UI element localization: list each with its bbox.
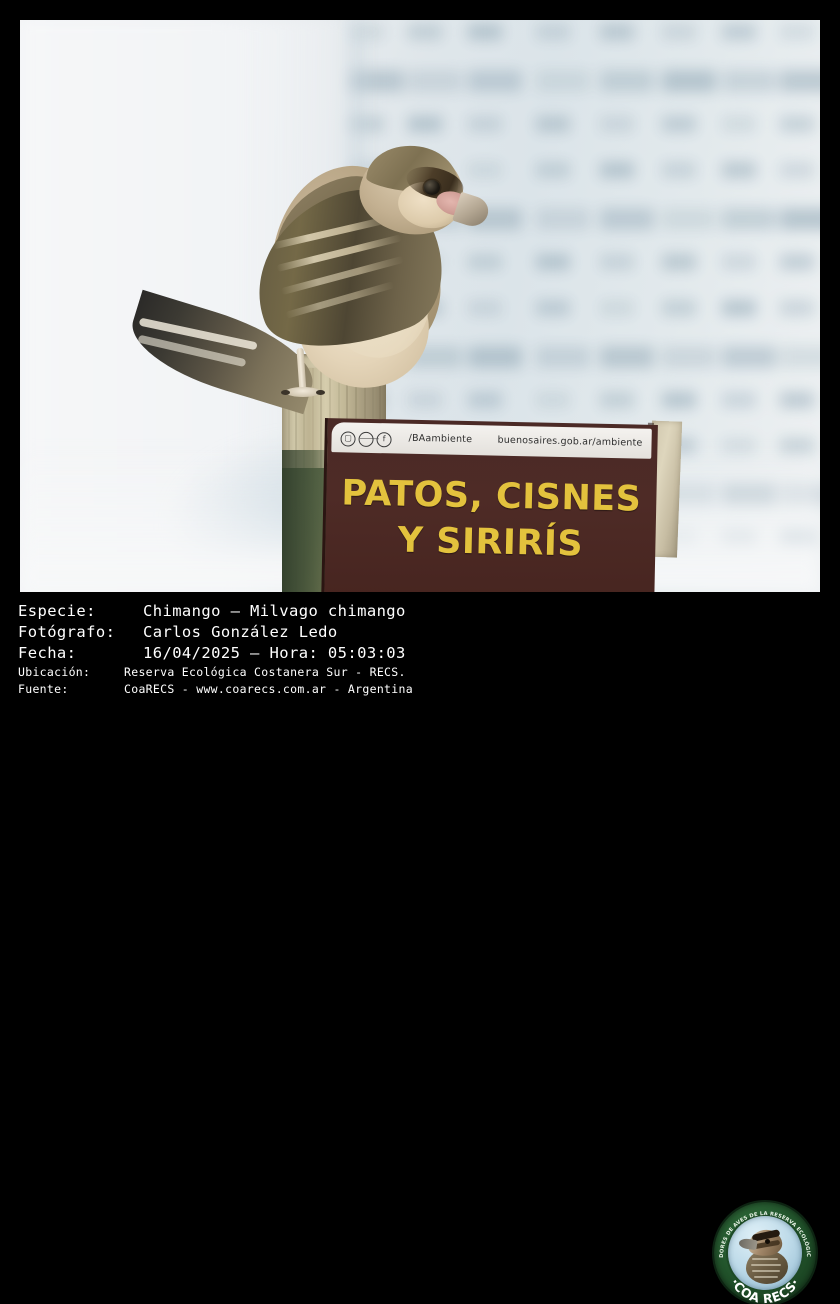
- building-window: [722, 254, 756, 270]
- building-window: [600, 24, 634, 40]
- bird-eye: [424, 180, 440, 195]
- building-window: [408, 116, 442, 132]
- building-window: [600, 70, 654, 92]
- svg-text:·COA RECS·: ·COA RECS·: [728, 1276, 803, 1304]
- information-sign: ▢ ⸻ f /BAambiente buenosaires.gob.ar/amb…: [321, 418, 673, 592]
- caption-label-1: Fotógrafo:: [18, 623, 115, 641]
- building-window: [662, 392, 696, 408]
- building-window: [662, 70, 716, 92]
- logo-brand-text: ·COA RECS·: [714, 1202, 816, 1304]
- caption-label-3: Ubicación:: [18, 665, 90, 679]
- building-window: [600, 254, 634, 270]
- caption-value-3: Reserva Ecológica Costanera Sur - RECS.: [124, 665, 406, 679]
- building-window: [600, 346, 654, 368]
- building-window: [722, 162, 756, 178]
- building-window: [468, 116, 502, 132]
- building-window: [662, 208, 716, 230]
- building-window: [468, 162, 502, 178]
- building-window: [780, 116, 814, 132]
- building-window: [600, 392, 634, 408]
- building-window: [780, 208, 820, 230]
- sign-title-line-1: PATOS, CISNES: [326, 470, 657, 523]
- building-window: [722, 208, 776, 230]
- caption-value-0: Chimango — Milvago chimango: [143, 602, 406, 620]
- caption-value-1: Carlos González Ledo: [143, 623, 338, 641]
- building-window: [536, 300, 570, 316]
- sign-board: ▢ ⸻ f /BAambiente buenosaires.gob.ar/amb…: [321, 418, 658, 592]
- caption-label-2: Fecha:: [18, 644, 76, 662]
- building-window: [536, 162, 570, 178]
- building-window: [600, 162, 634, 178]
- bird-photograph: ▢ ⸻ f /BAambiente buenosaires.gob.ar/amb…: [20, 20, 820, 592]
- building-window: [780, 70, 820, 92]
- building-window: [662, 254, 696, 270]
- chimango-caracara-bird: [120, 138, 450, 438]
- building-window: [536, 346, 590, 368]
- building-window: [408, 24, 442, 40]
- building-window: [468, 24, 502, 40]
- building-window: [662, 24, 696, 40]
- building-window: [468, 392, 502, 408]
- building-window: [780, 346, 820, 368]
- building-window: [722, 300, 756, 316]
- building-window: [722, 24, 756, 40]
- building-window: [600, 208, 654, 230]
- coa-recs-logo: CLUB DE OBSERVADORES DE AVES DE LA RESER…: [710, 1202, 822, 1304]
- building-window: [662, 346, 716, 368]
- building-window: [662, 162, 696, 178]
- building-window: [780, 162, 814, 178]
- building-window: [536, 116, 570, 132]
- building-window: [536, 70, 590, 92]
- caption-value-4: CoaRECS - www.coarecs.com.ar - Argentina: [124, 682, 413, 696]
- building-window: [536, 254, 570, 270]
- building-window: [468, 346, 522, 368]
- building-window: [600, 116, 634, 132]
- caption-label-0: Especie:: [18, 602, 96, 620]
- building-window: [468, 254, 502, 270]
- sign-website-url: buenosaires.gob.ar/ambiente: [497, 435, 642, 449]
- bird-foot: [285, 387, 321, 397]
- building-window: [722, 70, 776, 92]
- building-window: [468, 300, 502, 316]
- building-window: [600, 300, 634, 316]
- building-window: [662, 300, 696, 316]
- building-window: [536, 208, 590, 230]
- building-window: [536, 392, 570, 408]
- building-window: [780, 300, 814, 316]
- caption-bar: Especie:Chimango — Milvago chimangoFotóg…: [0, 598, 840, 710]
- screenshot-root: ▢ ⸻ f /BAambiente buenosaires.gob.ar/amb…: [0, 0, 840, 710]
- building-window: [780, 254, 814, 270]
- building-window: [468, 70, 522, 92]
- caption-label-4: Fuente:: [18, 682, 69, 696]
- building-window: [780, 392, 814, 408]
- building-window: [722, 116, 756, 132]
- building-window: [662, 116, 696, 132]
- building-window: [722, 392, 756, 408]
- sign-title: PATOS, CISNES Y SIRIRÍS: [325, 470, 657, 569]
- building-window: [722, 346, 776, 368]
- sign-title-line-2: Y SIRIRÍS: [325, 516, 656, 569]
- building-window: [780, 24, 814, 40]
- building-window: [408, 70, 462, 92]
- building-window: [536, 24, 570, 40]
- caption-value-2: 16/04/2025 — Hora: 05:03:03: [143, 644, 406, 662]
